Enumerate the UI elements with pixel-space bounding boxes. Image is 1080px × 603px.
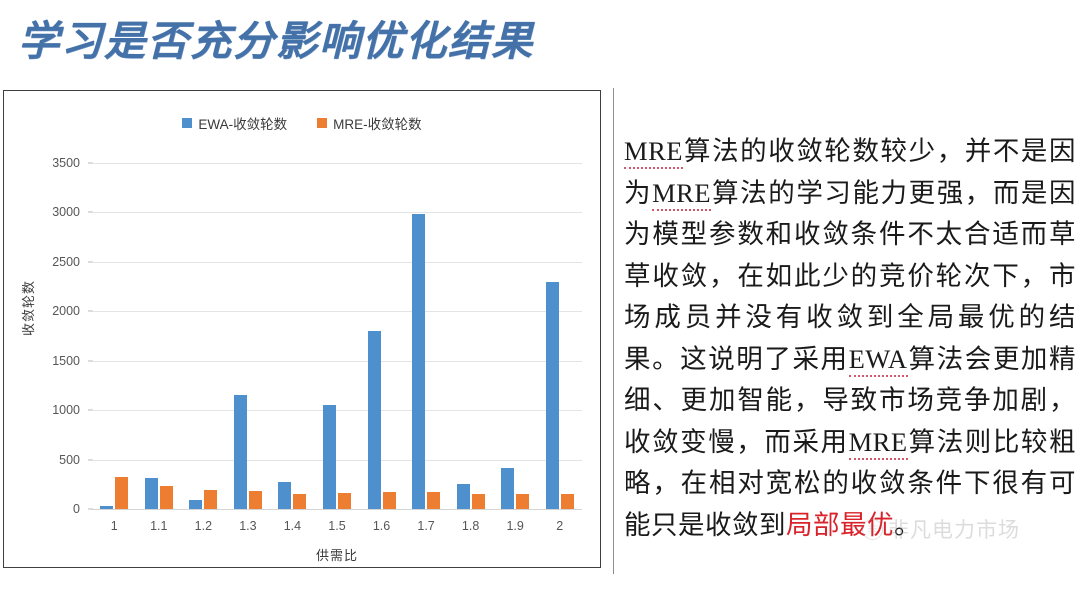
legend-entry-mre[interactable]: MRE-收敛轮数 bbox=[317, 113, 422, 133]
x-axis-tick-label: 1.4 bbox=[270, 519, 315, 533]
bar-mre[interactable] bbox=[249, 491, 262, 509]
legend-entry-ewa[interactable]: EWA-收敛轮数 bbox=[182, 113, 287, 133]
y-axis-tick-label: 3000 bbox=[52, 205, 80, 219]
bar-ewa[interactable] bbox=[546, 282, 559, 509]
body-paragraph: MRE算法的收敛轮数较少，并不是因为MRE算法的学习能力更强，而是因为模型参数和… bbox=[624, 131, 1076, 546]
x-axis-tick-label: 1.5 bbox=[315, 519, 360, 533]
bar-mre[interactable] bbox=[561, 494, 574, 509]
panel-divider bbox=[613, 88, 614, 574]
bar-mre[interactable] bbox=[383, 492, 396, 509]
x-axis-tick-label: 1.9 bbox=[493, 519, 538, 533]
legend-label: EWA-收敛轮数 bbox=[198, 113, 287, 133]
y-axis-tick-label: 3500 bbox=[52, 156, 80, 170]
legend-swatch-icon bbox=[182, 118, 192, 128]
chart-panel: EWA-收敛轮数MRE-收敛轮数 收敛轮数 050010001500200025… bbox=[3, 90, 601, 568]
bar-ewa[interactable] bbox=[323, 405, 336, 509]
gridline bbox=[92, 509, 582, 510]
chart-legend: EWA-收敛轮数MRE-收敛轮数 bbox=[4, 113, 600, 133]
legend-label: MRE-收敛轮数 bbox=[333, 113, 422, 133]
x-axis-tick-label: 1.1 bbox=[137, 519, 182, 533]
bar-group bbox=[181, 163, 226, 509]
x-axis-tick-label: 1 bbox=[92, 519, 137, 533]
spellcheck-underlined-term: MRE bbox=[849, 427, 908, 460]
bar-ewa[interactable] bbox=[368, 331, 381, 509]
bar-group bbox=[448, 163, 493, 509]
bar-mre[interactable] bbox=[338, 493, 351, 509]
bar-ewa[interactable] bbox=[457, 484, 470, 509]
spellcheck-underlined-term: EWA bbox=[849, 344, 908, 377]
bar-group bbox=[537, 163, 582, 509]
bar-mre[interactable] bbox=[472, 494, 485, 509]
bar-mre[interactable] bbox=[427, 492, 440, 509]
bar-ewa[interactable] bbox=[189, 500, 202, 509]
emphasis-text-red: 局部最优 bbox=[786, 510, 894, 540]
bar-mre[interactable] bbox=[115, 477, 128, 509]
bar-group bbox=[493, 163, 538, 509]
y-axis-tick-label: 500 bbox=[59, 453, 80, 467]
legend-swatch-icon bbox=[317, 118, 327, 128]
bar-group bbox=[92, 163, 137, 509]
bar-ewa[interactable] bbox=[412, 214, 425, 509]
y-axis-tick-label: 2500 bbox=[52, 255, 80, 269]
bar-mre[interactable] bbox=[160, 486, 173, 509]
x-axis-tick-label: 2 bbox=[537, 519, 582, 533]
bar-mre[interactable] bbox=[516, 494, 529, 509]
plot-area: 11.11.21.31.41.51.61.71.81.92 供需比 bbox=[92, 163, 582, 603]
page-title: 学习是否充分影响优化结果 bbox=[18, 6, 618, 68]
y-axis-tick-label: 1500 bbox=[52, 354, 80, 368]
y-axis-tick-label: 2000 bbox=[52, 304, 80, 318]
x-axis-tick-label: 1.8 bbox=[448, 519, 493, 533]
spellcheck-underlined-term: MRE bbox=[624, 136, 683, 169]
y-axis-tick-labels: 0500100015002000250030003500 bbox=[40, 163, 86, 509]
body-text-run: 。 bbox=[894, 510, 921, 540]
bar-group bbox=[315, 163, 360, 509]
bar-ewa[interactable] bbox=[501, 468, 514, 509]
bar-group bbox=[359, 163, 404, 509]
bar-group bbox=[270, 163, 315, 509]
bar-ewa[interactable] bbox=[100, 506, 113, 509]
bar-mre[interactable] bbox=[293, 494, 306, 509]
x-axis-title: 供需比 bbox=[92, 545, 582, 564]
y-axis-tick-label: 0 bbox=[73, 502, 80, 516]
bar-ewa[interactable] bbox=[145, 478, 158, 509]
y-axis-tick-label: 1000 bbox=[52, 403, 80, 417]
bar-group bbox=[137, 163, 182, 509]
bar-group bbox=[404, 163, 449, 509]
x-axis-tick-labels: 11.11.21.31.41.51.61.71.81.92 bbox=[92, 515, 582, 539]
bar-ewa[interactable] bbox=[278, 482, 291, 509]
bar-ewa[interactable] bbox=[234, 395, 247, 509]
bar-series-container bbox=[92, 163, 582, 509]
x-axis-tick-label: 1.7 bbox=[404, 519, 449, 533]
spellcheck-underlined-term: MRE bbox=[652, 178, 711, 211]
bar-group bbox=[226, 163, 271, 509]
x-axis-tick-label: 1.2 bbox=[181, 519, 226, 533]
bar-mre[interactable] bbox=[204, 490, 217, 509]
x-axis-tick-label: 1.6 bbox=[359, 519, 404, 533]
x-axis-tick-label: 1.3 bbox=[226, 519, 271, 533]
y-axis-title: 收敛轮数 bbox=[18, 280, 37, 336]
